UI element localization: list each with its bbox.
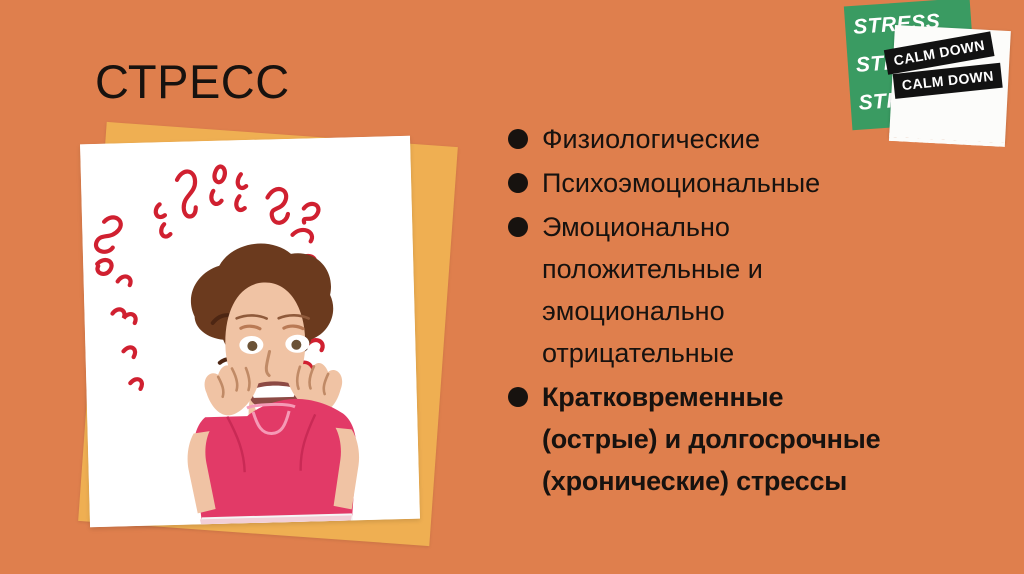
list-item: Психоэмоциональные (508, 162, 956, 204)
calm-down-sticker-graphic: STRESS STRESS STRESS CALM DOWN CALM DOWN (836, 0, 1024, 152)
bullet-text-block: Кратковременные (острые) и долгосрочные … (542, 376, 880, 502)
bullet-text-line: отрицательные (542, 332, 763, 374)
bullet-text: Кратковременные (542, 382, 783, 412)
slide-canvas: СТРЕСС (0, 0, 1024, 574)
page-title: СТРЕСС (95, 58, 290, 105)
bullet-text-line: (острые) и долгосрочные (542, 418, 880, 460)
list-item: Кратковременные (острые) и долгосрочные … (508, 376, 956, 502)
photo-stack (66, 118, 476, 558)
bullet-text-block: Эмоционально положительные и эмоциональн… (542, 206, 763, 374)
bullet-text: Психоэмоциональные (542, 162, 820, 204)
bullet-text-line: положительные и (542, 248, 763, 290)
bullet-dot-icon (508, 217, 528, 237)
bullet-dot-icon (508, 387, 528, 407)
bullet-dot-icon (508, 173, 528, 193)
list-item: Эмоционально положительные и эмоциональн… (508, 206, 956, 374)
bullet-list: Физиологические Психоэмоциональные Эмоци… (508, 118, 956, 504)
bullet-dot-icon (508, 129, 528, 149)
stress-woman-illustration (80, 136, 420, 528)
bullet-text-line: эмоционально (542, 290, 763, 332)
bullet-text: Физиологические (542, 118, 760, 160)
bullet-text-line: (хронические) стрессы (542, 460, 880, 502)
photo-card-front (80, 136, 420, 528)
bullet-text: Эмоционально (542, 212, 730, 242)
